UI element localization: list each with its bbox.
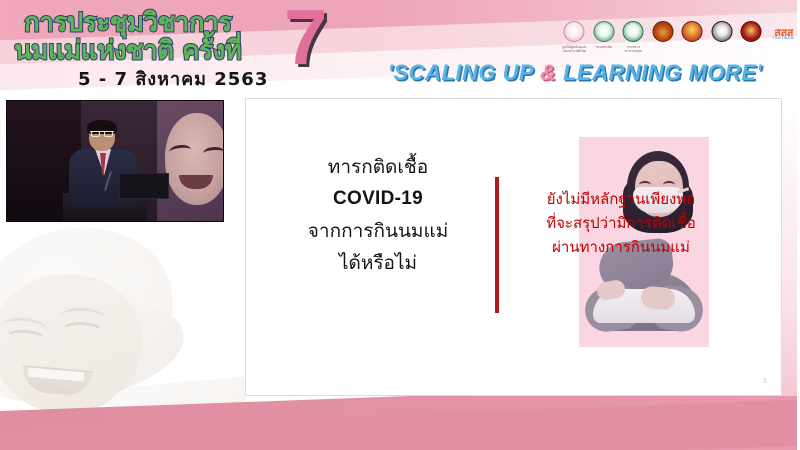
logo-disc [682, 21, 703, 42]
question-block: ทารกติดเชื้อ COVID-19 จากการกินนมแม่ ได้… [264, 151, 492, 279]
answer-line-3: ผ่านทางการกินนมแม่ [496, 235, 746, 259]
slogan-ampersand: & [540, 60, 556, 85]
university-seal-logo [710, 20, 735, 53]
answer-line-2: ที่จะสรุปว่ามีการติดเชื้อ [496, 211, 746, 235]
slogan-prefix: 'SCALING UP [388, 60, 540, 85]
logo-disc [741, 21, 762, 42]
podium-laptop [119, 173, 169, 199]
slide-content-frame: ทารกติดเชื้อ COVID-19 จากการกินนมแม่ ได้… [245, 98, 782, 396]
question-line-4: ได้หรือไม่ [264, 247, 492, 279]
conference-date: 5 - 7 สิงหาคม 2563 [78, 64, 268, 93]
logo-caption: มูลนิธิศูนย์นมแม่แห่งประเทศไทย [562, 45, 587, 53]
edition-number: 7 [284, 0, 327, 76]
conference-slogan: 'SCALING UP & LEARNING MORE' [360, 60, 790, 86]
photo-fade-overlay [0, 222, 246, 432]
speaker-glasses-right [104, 131, 113, 137]
mother-eye-left [639, 181, 651, 185]
department-of-health-logo: กระทรวงสาธารณสุข [621, 20, 646, 53]
presentation-slide: การประชุมวิชาการ นมแม่แห่งชาติ ครั้งที่ … [0, 0, 800, 450]
logo-caption: กรมอนามัย [592, 45, 617, 53]
answer-line-1: ยังไม่มีหลักฐานเพียงพอ [496, 187, 746, 211]
mother-eye-right [663, 181, 675, 185]
answer-block: ยังไม่มีหลักฐานเพียงพอ ที่จะสรุปว่ามีการ… [496, 187, 746, 259]
logo-disc [593, 21, 614, 42]
slogan-suffix: LEARNING MORE' [556, 60, 762, 85]
logo-disc [652, 21, 673, 42]
logo-disc [711, 21, 732, 42]
logo-disc [564, 21, 585, 42]
speaker-video-thumbnail[interactable] [6, 100, 224, 222]
speaker-glasses-left [91, 131, 100, 137]
slide-page-number: 6 [763, 378, 767, 385]
logo-disc [623, 21, 644, 42]
question-line-2: COVID-19 [264, 183, 492, 215]
royal-college-emblem-logo [651, 20, 676, 53]
logo-caption: กระทรวงสาธารณสุข [621, 45, 646, 53]
royal-garuda-emblem-logo [680, 20, 705, 53]
red-crest-emblem-logo [739, 20, 764, 53]
thai-breastfeeding-foundation-logo: มูลนิธิศูนย์นมแม่แห่งประเทศไทย [562, 20, 587, 53]
child-in-hat-background-photo [0, 222, 246, 432]
thaihealth-sss-logo: สสส Thai Health [769, 20, 798, 53]
baby-on-screen [165, 113, 224, 205]
sponsor-logo-strip: มูลนิธิศูนย์นมแม่แห่งประเทศไทย กรมอนามัย… [562, 19, 798, 53]
question-line-1: ทารกติดเชื้อ [264, 151, 492, 183]
sss-subtitle: Thai Health [769, 36, 799, 40]
question-line-3: จากการกินนมแม่ [264, 215, 492, 247]
ministry-of-public-health-logo: กรมอนามัย [592, 20, 617, 53]
